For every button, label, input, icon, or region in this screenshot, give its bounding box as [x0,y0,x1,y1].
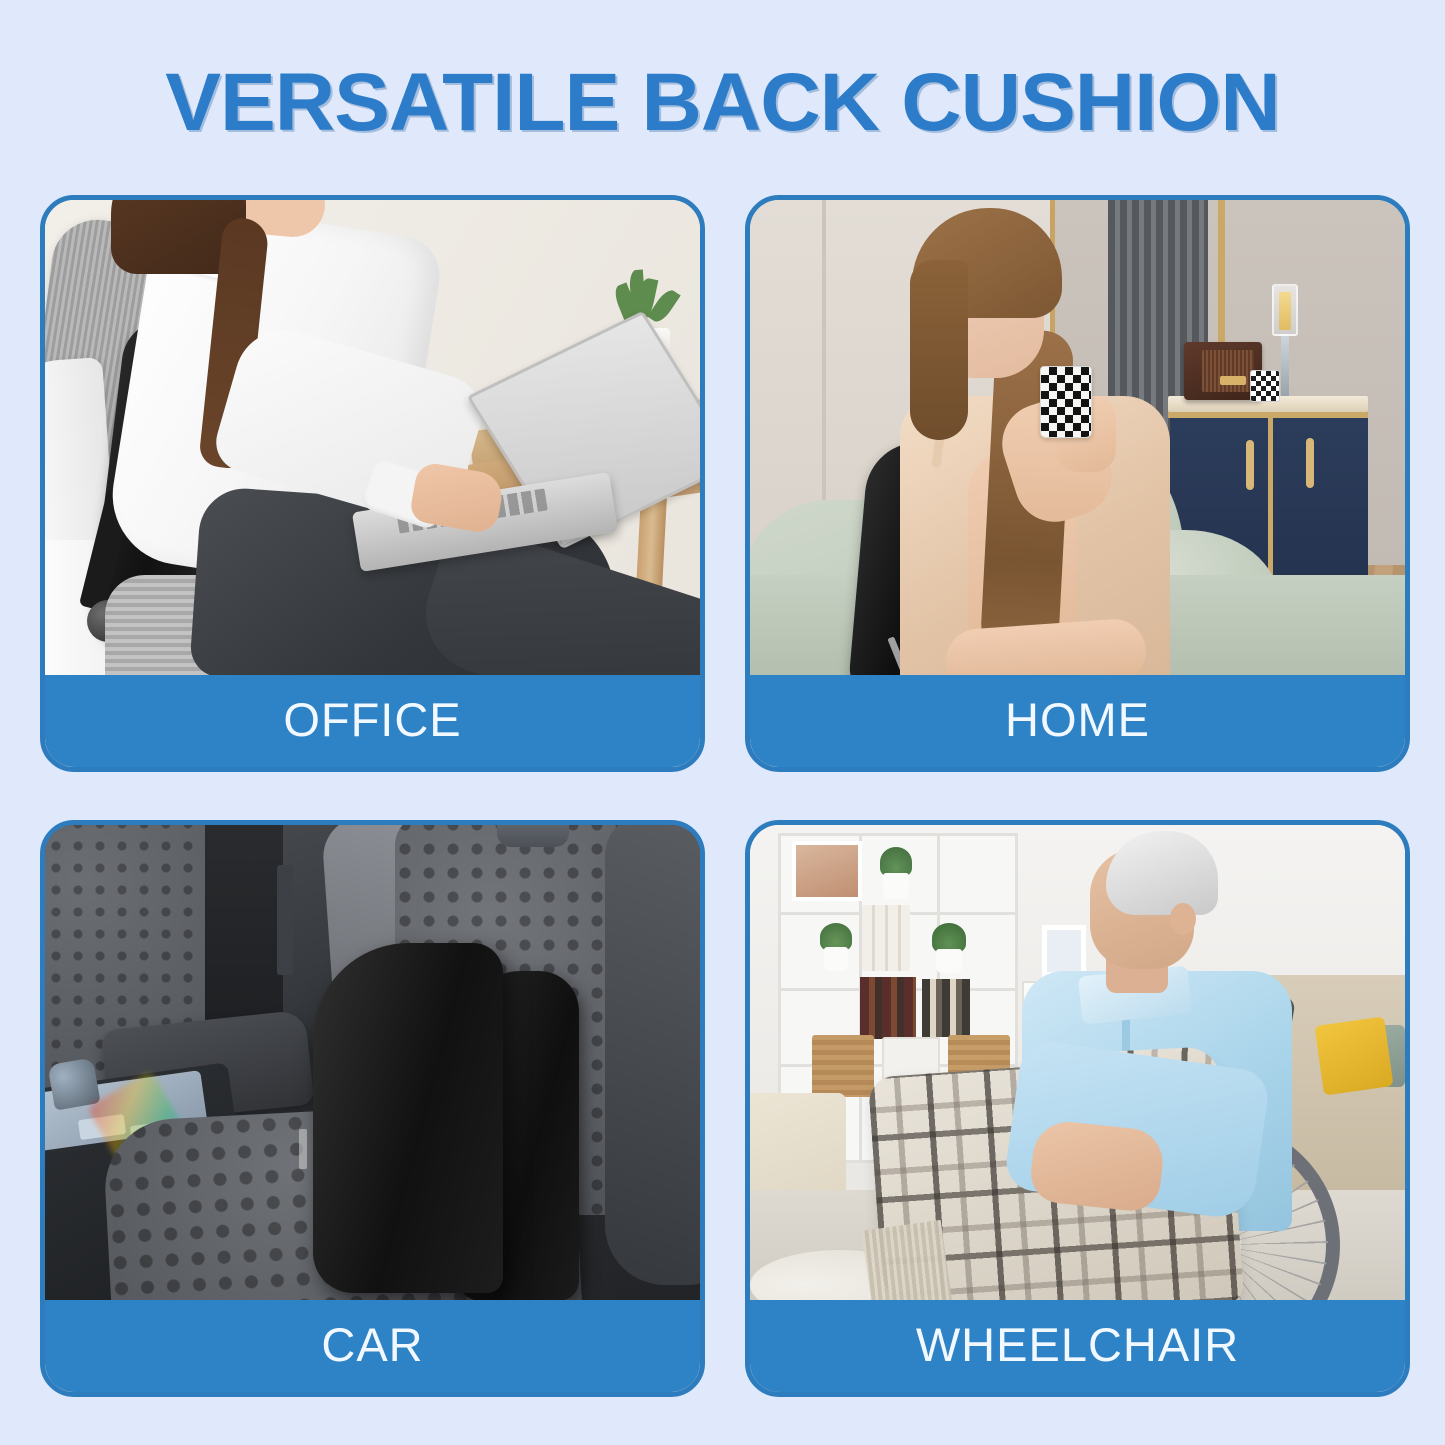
gear-shifter [47,1057,100,1110]
card-label-office: OFFICE [283,696,461,743]
driver-seat-outer-bolster [605,825,700,1285]
shelf-plant-pot [824,947,848,971]
card-label-banner-office: OFFICE [45,675,700,767]
card-label-banner-wheelchair: WHEELCHAIR [750,1300,1405,1392]
lamp-stem [1281,334,1289,396]
wall-panel-seam [822,200,826,500]
person-hair-side [910,260,968,440]
card-label-banner-home: HOME [750,675,1405,767]
home-photo [750,200,1405,685]
headrest [497,825,569,847]
feature-card-wheelchair[interactable]: WHEELCHAIR [745,820,1410,1397]
checkered-mug-on-cabinet [1250,370,1280,402]
feature-card-home[interactable]: HOME [745,195,1410,772]
shelf-binders [862,905,910,971]
yellow-pillow [1314,1016,1393,1095]
checkered-mug [1040,366,1092,438]
shelf-books [860,977,916,1039]
card-label-home: HOME [1005,696,1150,743]
cabinet-handle [1246,440,1254,490]
lumbar-cushion [313,943,503,1293]
blanket-fringe [861,1220,954,1310]
car-photo [45,825,700,1310]
card-label-banner-car: CAR [45,1300,700,1392]
shelf-plant-pot [936,949,962,973]
cabinet-handle [1306,438,1314,488]
infographic-page: VERSATILE BACK CUSHION [0,0,1445,1445]
shelf-plant-pot [883,873,909,899]
person-ear [1170,903,1196,935]
office-photo [45,200,700,685]
wheelchair-photo [750,825,1405,1310]
page-title: VERSATILE BACK CUSHION [0,56,1445,150]
seat-belt [277,865,293,975]
lamp-candle [1279,292,1291,330]
photo-frame [1042,925,1086,977]
feature-card-car[interactable]: CAR [40,820,705,1397]
shelf-books [922,979,970,1037]
card-label-car: CAR [321,1321,423,1368]
person-clasped-hands [1028,1118,1166,1213]
radio-logo [1220,376,1246,385]
cushion-brand-tag [299,1129,307,1169]
card-label-wheelchair: WHEELCHAIR [916,1321,1239,1368]
photo-frame [792,841,862,901]
feature-card-office[interactable]: OFFICE [40,195,705,772]
lamp-rod [1218,200,1222,350]
radio-speaker-mesh [1202,350,1254,392]
wicker-storage-box [812,1035,874,1097]
